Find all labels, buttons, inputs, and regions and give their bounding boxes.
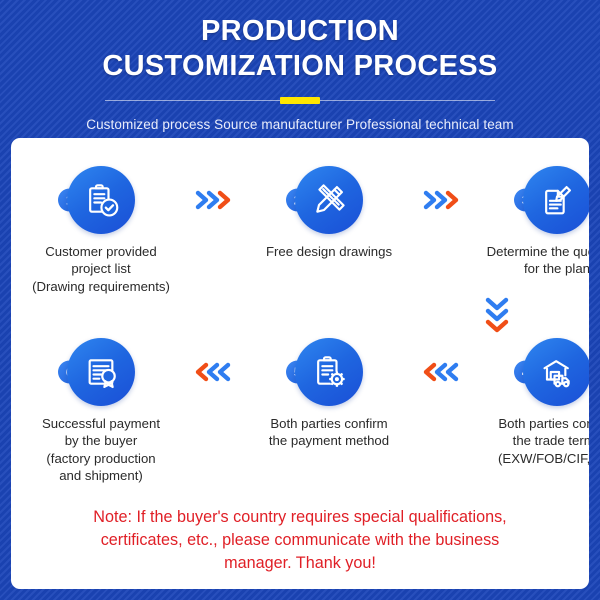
step-3-badge [523,166,589,234]
title-line-1: PRODUCTION [201,15,399,47]
step-2-label: Free design drawings [245,243,413,260]
step-5-badge [295,338,363,406]
step-6-badge [67,338,135,406]
step-4-badge-wrap: 4 [523,338,589,406]
divider-accent-bar [280,97,320,104]
chevrons-right-icon [422,189,464,211]
step-3-label: Determine the quotation for the plan [473,243,589,278]
chevrons-down-icon [484,296,510,336]
process-step-6[interactable]: 6 Successful payment by the buyer (facto… [17,338,185,485]
step-4-badge [523,338,589,406]
page-title: PRODUCTION CUSTOMIZATION PROCESS [40,14,560,85]
title-line-2: CUSTOMIZATION PROCESS [40,49,560,84]
clipboard-check-icon [81,180,121,220]
process-step-1[interactable]: 1 Customer provided proj [17,166,185,295]
process-step-5[interactable]: 5 [245,338,413,450]
step-4-label: Both parties confirm the trade terms (EX… [473,415,589,467]
poster-root: PRODUCTION CUSTOMIZATION PROCESS Customi… [0,0,600,600]
pencil-ruler-icon [309,180,349,220]
process-card: 1 Customer provided proj [11,138,589,589]
process-step-4[interactable]: 4 [473,338,589,467]
clipboard-gear-icon [309,352,349,392]
chevrons-left-icon [194,361,236,383]
document-pen-icon [537,180,577,220]
step-5-label: Both parties confirm the payment method [245,415,413,450]
certificate-award-icon [81,352,121,392]
step-1-badge [67,166,135,234]
process-row-bottom: 6 Successful payment by the buyer (facto… [11,338,589,485]
arrow-step2-to-step3 [413,166,473,234]
arrow-step5-to-step6 [185,338,245,406]
process-step-3[interactable]: 3 Determine the quotation for the pla [473,166,589,278]
step-2-badge-wrap: 2 [295,166,363,234]
process-row-top: 1 Customer provided proj [11,166,589,295]
arrow-step1-to-step2 [185,166,245,234]
process-step-2[interactable]: 2 Free design drawings [245,166,413,260]
arrow-step4-to-step5 [413,338,473,406]
arrow-step3-to-step4 [484,296,518,336]
step-2-badge [295,166,363,234]
warehouse-truck-icon [537,352,577,392]
step-1-label: Customer provided project list (Drawing … [17,243,185,295]
note-text: Note: If the buyer's country requires sp… [29,506,571,575]
step-6-label: Successful payment by the buyer (factory… [17,415,185,485]
step-5-badge-wrap: 5 [295,338,363,406]
chevrons-right-icon [194,189,236,211]
title-divider [105,96,495,106]
chevrons-left-icon [422,361,464,383]
page-subtitle: Customized process Source manufacturer P… [0,117,600,132]
step-3-badge-wrap: 3 [523,166,589,234]
step-6-badge-wrap: 6 [67,338,135,406]
step-1-badge-wrap: 1 [67,166,135,234]
header: PRODUCTION CUSTOMIZATION PROCESS Customi… [0,0,600,132]
